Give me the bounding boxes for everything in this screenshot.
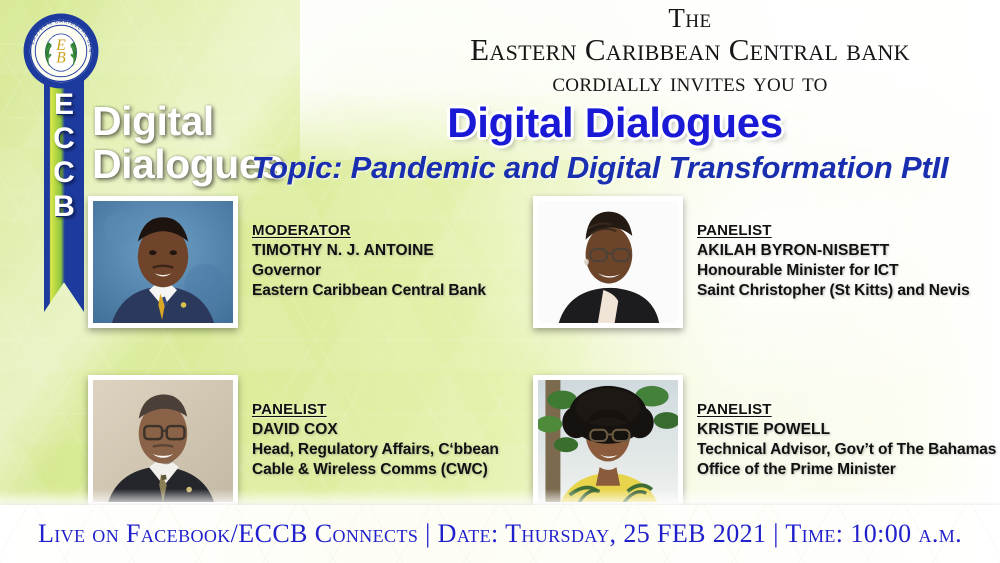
- person-name: TIMOTHY N. J. ANTOINE: [252, 241, 486, 261]
- portrait-kristie-powell: [538, 380, 678, 502]
- event-title: Digital Dialogues: [230, 99, 1000, 147]
- ribbon-letter-b: B: [53, 192, 75, 222]
- photo-frame: [88, 375, 238, 507]
- header-line-the: The: [380, 4, 1000, 33]
- photo-frame: [533, 196, 683, 328]
- event-topic: Topic: Pandemic and Digital Transformati…: [200, 150, 1000, 186]
- person-name: AKILAH BYRON-NISBETT: [697, 241, 970, 261]
- person-detail-1: Governor: [252, 261, 486, 281]
- event-footer-bar: Live on Facebook/ECCB Connects | Date: T…: [0, 505, 1000, 563]
- person-detail-2: Saint Christopher (St Kitts) and Nevis: [697, 281, 970, 301]
- portrait-timothy-antoine: [93, 201, 233, 323]
- footer-details-text: Live on Facebook/ECCB Connects | Date: T…: [38, 519, 962, 549]
- person-bio: PANELIST AKILAH BYRON-NISBETT Honourable…: [697, 196, 970, 301]
- ribbon-letter-e: E: [54, 90, 74, 120]
- person-detail-2: Office of the Prime Minister: [697, 460, 996, 480]
- person-card-panelist-2: PANELIST DAVID COX Head, Regulatory Affa…: [88, 375, 499, 507]
- person-detail-1: Honourable Minister for ICT: [697, 261, 970, 281]
- person-role-label: MODERATOR: [252, 222, 486, 241]
- person-name: KRISTIE POWELL: [697, 420, 996, 440]
- portrait-david-cox: [93, 380, 233, 502]
- photo-frame: [88, 196, 238, 328]
- invitation-header: The Eastern Caribbean Central bank cordi…: [380, 4, 1000, 97]
- header-line-invites: cordially invites you to: [380, 67, 1000, 97]
- photo-frame: [533, 375, 683, 507]
- person-bio: PANELIST DAVID COX Head, Regulatory Affa…: [252, 375, 499, 480]
- person-card-panelist-3: PANELIST KRISTIE POWELL Technical Adviso…: [533, 375, 996, 507]
- person-role-label: PANELIST: [697, 222, 970, 241]
- svg-text:B: B: [56, 50, 66, 67]
- person-detail-1: Technical Advisor, Gov’t of The Bahamas: [697, 440, 996, 460]
- portrait-akilah-byron-nisbett: [538, 201, 678, 323]
- person-detail-2: Cable & Wireless Comms (CWC): [252, 460, 499, 480]
- eccb-seal-icon: E B EASTERN CARIBBEAN CENTRAL BANK: [22, 12, 100, 90]
- person-role-label: PANELIST: [697, 401, 996, 420]
- eccb-ribbon-letters: E C C B: [44, 90, 84, 222]
- person-card-panelist-1: PANELIST AKILAH BYRON-NISBETT Honourable…: [533, 196, 970, 328]
- person-bio: MODERATOR TIMOTHY N. J. ANTOINE Governor…: [252, 196, 486, 301]
- person-name: DAVID COX: [252, 420, 499, 440]
- poster-canvas: E B EASTERN CARIBBEAN CENTRAL BANK E C C…: [0, 0, 1000, 563]
- person-detail-1: Head, Regulatory Affairs, C‘bbean: [252, 440, 499, 460]
- person-card-moderator: MODERATOR TIMOTHY N. J. ANTOINE Governor…: [88, 196, 486, 328]
- header-line-bank-name: Eastern Caribbean Central bank: [380, 33, 1000, 67]
- person-detail-2: Eastern Caribbean Central Bank: [252, 281, 486, 301]
- person-role-label: PANELIST: [252, 401, 499, 420]
- ribbon-letter-c2: C: [53, 158, 75, 188]
- person-bio: PANELIST KRISTIE POWELL Technical Adviso…: [697, 375, 996, 480]
- ribbon-letter-c1: C: [53, 124, 75, 154]
